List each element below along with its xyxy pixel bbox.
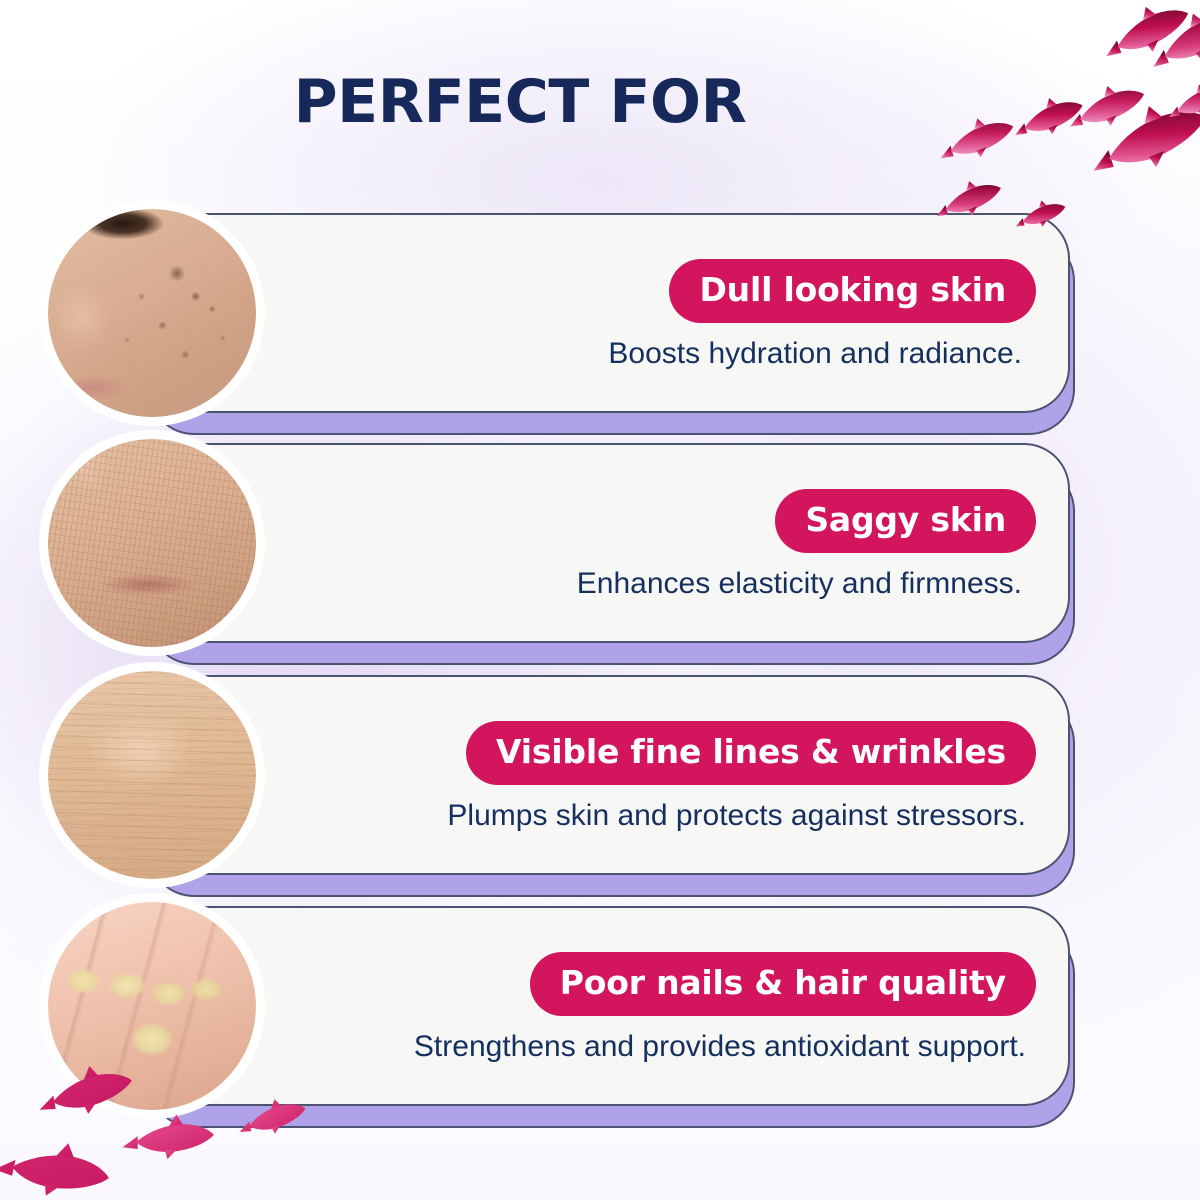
card-face: Visible fine lines & wrinkles Plumps ski… [140, 675, 1070, 875]
benefit-card[interactable]: Saggy skin Enhances elasticity and firmn… [140, 443, 1075, 655]
card-content: Dull looking skin Boosts hydration and r… [324, 215, 1050, 415]
card-content: Poor nails & hair quality Strengthens an… [324, 908, 1050, 1108]
photo-image [48, 439, 256, 647]
card-description: Enhances elasticity and firmness. [577, 567, 1036, 602]
card-badge[interactable]: Visible fine lines & wrinkles [466, 721, 1036, 785]
card-badge[interactable]: Saggy skin [775, 489, 1036, 553]
card-badge[interactable]: Poor nails & hair quality [530, 952, 1036, 1016]
card-content: Saggy skin Enhances elasticity and firmn… [324, 445, 1050, 645]
wrinkled-mouth-skin-photo [48, 439, 256, 647]
brittle-fingernails-photo [48, 902, 256, 1110]
dull-spotted-cheek-photo [48, 209, 256, 417]
benefit-card[interactable]: Poor nails & hair quality Strengthens an… [140, 906, 1075, 1118]
infographic-canvas: PERFECT FOR Dull looking skin Boosts hyd… [0, 0, 1200, 1200]
card-description: Strengthens and provides antioxidant sup… [414, 1030, 1036, 1065]
card-face: Poor nails & hair quality Strengthens an… [140, 906, 1070, 1106]
card-content: Visible fine lines & wrinkles Plumps ski… [324, 677, 1050, 877]
card-description: Plumps skin and protects against stresso… [447, 799, 1036, 834]
photo-image [48, 209, 256, 417]
benefit-card[interactable]: Dull looking skin Boosts hydration and r… [140, 213, 1075, 425]
card-description: Boosts hydration and radiance. [608, 337, 1036, 372]
forehead-fine-lines-photo [48, 671, 256, 879]
card-face: Saggy skin Enhances elasticity and firmn… [140, 443, 1070, 643]
benefit-card-list: Dull looking skin Boosts hydration and r… [0, 0, 1200, 1200]
photo-image [48, 671, 256, 879]
photo-image [48, 902, 256, 1110]
card-badge[interactable]: Dull looking skin [669, 259, 1036, 323]
benefit-card[interactable]: Visible fine lines & wrinkles Plumps ski… [140, 675, 1075, 887]
card-face: Dull looking skin Boosts hydration and r… [140, 213, 1070, 413]
